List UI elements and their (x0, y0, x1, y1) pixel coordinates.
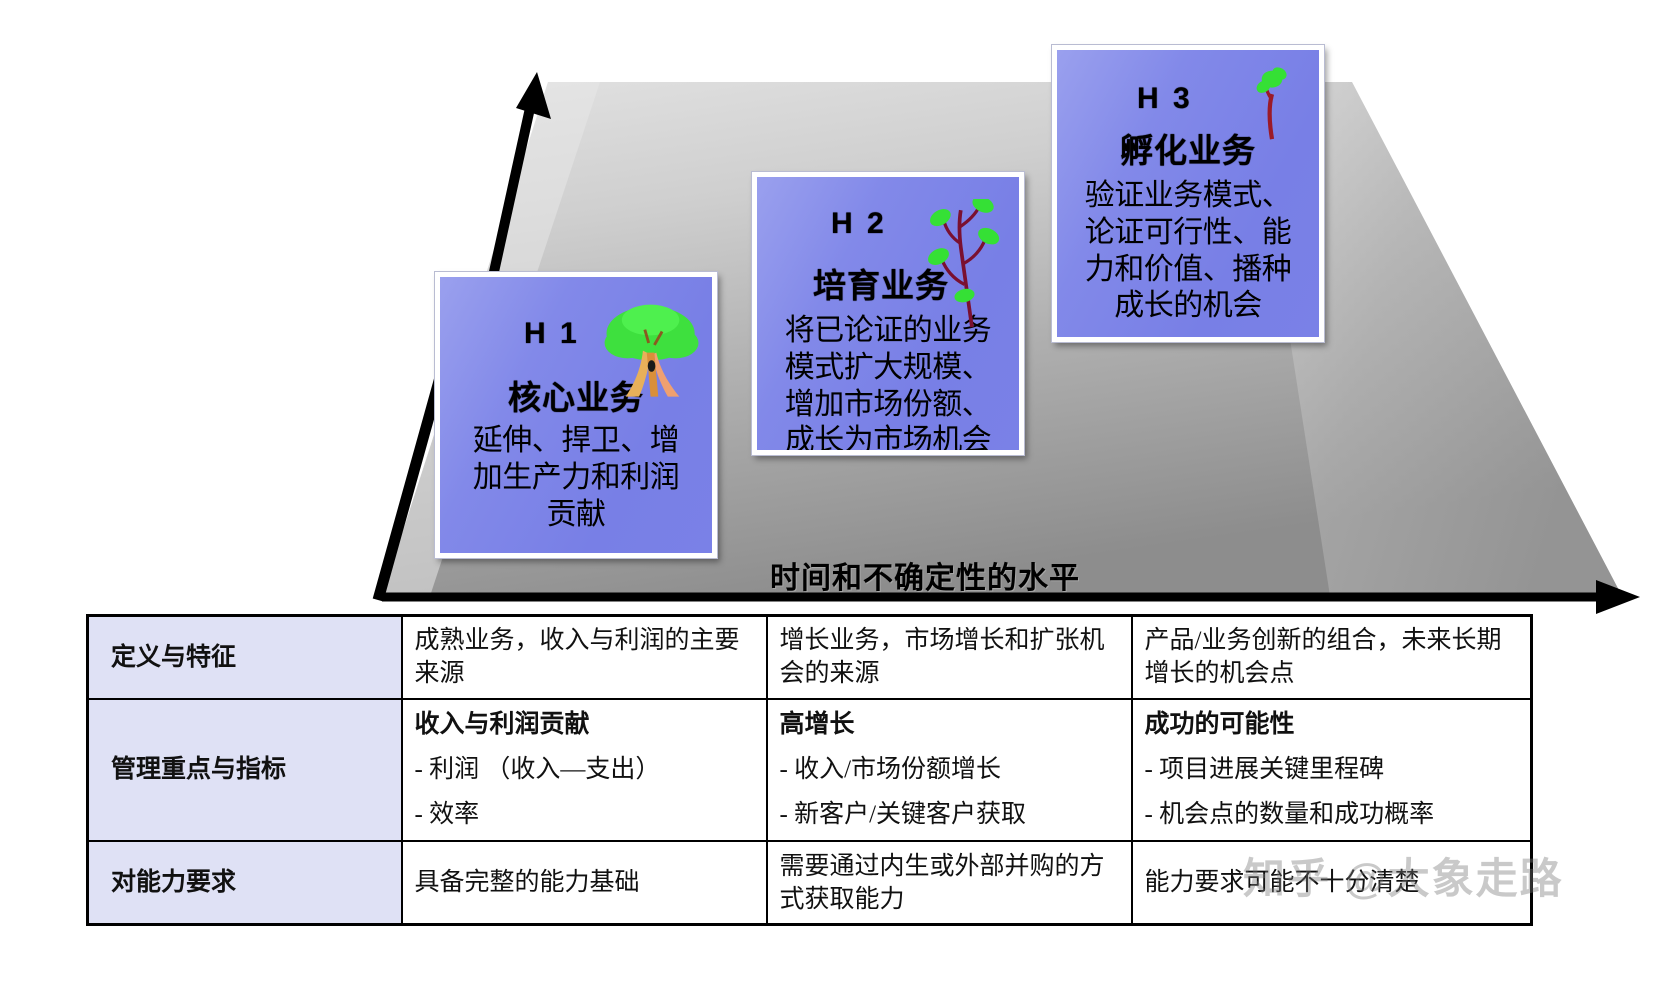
cell-h2: 需要通过内生或外部并购的方式获取能力 (767, 841, 1132, 924)
cell-h1: 具备完整的能力基础 (402, 841, 767, 924)
cell-h1: 收入与利润贡献 - 利润 （收入—支出） - 效率 (402, 699, 767, 841)
cell-h2: 高增长 - 收入/市场份额增长 - 新客户/关键客户获取 (767, 699, 1132, 841)
horizon-comparison-table: 定义与特征 成熟业务，收入与利润的主要来源 增长业务，市场增长和扩张机会的来源 … (86, 614, 1533, 926)
time-axis-label: 时间和不确定性的水平 (770, 553, 1080, 597)
table-row: 定义与特征 成熟业务，收入与利润的主要来源 增长业务，市场增长和扩张机会的来源 … (88, 616, 1532, 699)
cell-bullet: - 效率 (415, 798, 754, 831)
cell-h1: 成熟业务，收入与利润的主要来源 (402, 616, 767, 699)
cell-h3: 成功的可能性 - 项目进展关键里程碑 - 机会点的数量和成功概率 (1132, 699, 1532, 841)
horizon-card-h2[interactable]: H 2 培育业务 将已论证的业务 模式扩大规模、 增加市场份额、 成长为市场机会 (752, 172, 1024, 455)
horizon-title: 核心业务 (444, 377, 708, 420)
row-header: 对能力要求 (88, 841, 402, 924)
row-header: 管理重点与指标 (88, 699, 402, 841)
horizon-title: 培育业务 (761, 265, 1015, 308)
table-row: 管理重点与指标 收入与利润贡献 - 利润 （收入—支出） - 效率 高增长 - … (88, 699, 1532, 841)
horizon-card-h1[interactable]: H 1 核心业务 延伸、捍卫、增 加生产力和利润 贡献 (435, 272, 717, 558)
horizon-code: H 1 (444, 315, 708, 353)
cell-h3: 能力要求可能不十分清楚 (1132, 841, 1532, 924)
cell-heading: 收入与利润贡献 (415, 708, 754, 741)
cell-bullet: - 机会点的数量和成功概率 (1145, 798, 1519, 831)
cell-bullet: - 收入/市场份额增长 (780, 753, 1119, 786)
horizon-code: H 3 (1061, 80, 1315, 118)
cell-bullet: - 项目进展关键里程碑 (1145, 753, 1519, 786)
cell-heading: 成功的可能性 (1145, 708, 1519, 741)
cell-h2: 增长业务，市场增长和扩张机会的来源 (767, 616, 1132, 699)
diagram-canvas: H 1 核心业务 延伸、捍卫、增 加生产力和利润 贡献 H 2 培育业务 将已论… (0, 0, 1668, 1002)
horizon-code: H 2 (761, 205, 1015, 243)
row-header: 定义与特征 (88, 616, 402, 699)
cell-h3: 产品/业务创新的组合，未来长期增长的机会点 (1132, 616, 1532, 699)
horizon-card-h3[interactable]: H 3 孵化业务 验证业务模式、 论证可行性、能 力和价值、播种 成长的机会 (1052, 45, 1324, 342)
horizon-description: 将已论证的业务 模式扩大规模、 增加市场份额、 成长为市场机会 (761, 313, 1015, 455)
horizon-title: 孵化业务 (1061, 130, 1315, 173)
cell-heading: 高增长 (780, 708, 1119, 741)
time-axis-arrowhead (1596, 580, 1640, 614)
table-row: 对能力要求 具备完整的能力基础 需要通过内生或外部并购的方式获取能力 能力要求可… (88, 841, 1532, 924)
cell-bullet: - 新客户/关键客户获取 (780, 798, 1119, 831)
cell-bullet: - 利润 （收入—支出） (415, 753, 754, 786)
horizon-description: 延伸、捍卫、增 加生产力和利润 贡献 (444, 423, 708, 533)
horizon-description: 验证业务模式、 论证可行性、能 力和价值、播种 成长的机会 (1061, 178, 1315, 324)
